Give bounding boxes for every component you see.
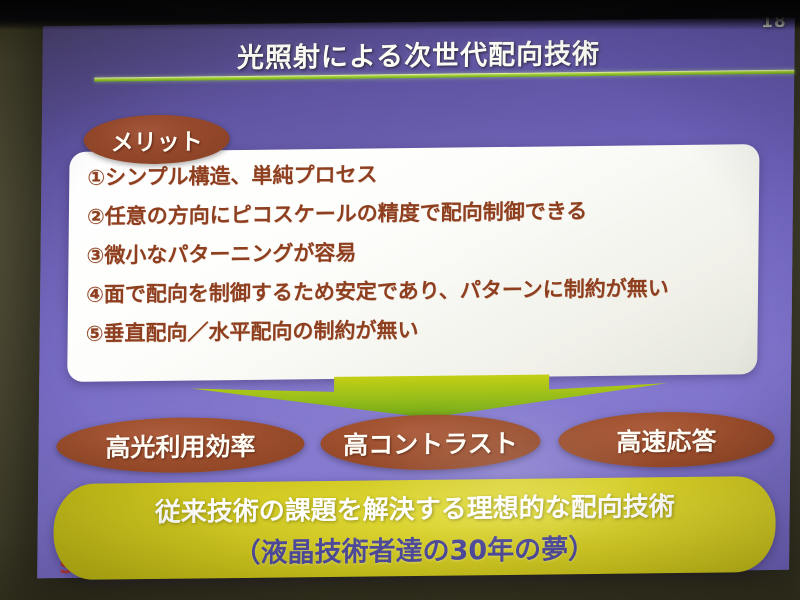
merit-badge: メリット	[83, 114, 230, 165]
benefit-bubble-3: 高速応答	[558, 411, 775, 468]
conclusion-line-2: （液晶技術者達の30年の夢）	[53, 525, 775, 572]
screenshot-root: 18 光照射による次世代配向技術 メリット ①シンプル構造、単純プロセス ②任意…	[0, 0, 800, 600]
benefits-row: 高光利用効率 高コントラスト 高速応答	[38, 411, 791, 482]
projected-slide: 18 光照射による次世代配向技術 メリット ①シンプル構造、単純プロセス ②任意…	[37, 18, 795, 579]
merit-item-1: ①シンプル構造、単純プロセス	[87, 160, 759, 189]
conclusion-box: 従来技術の課題を解決する理想的な配向技術 （液晶技術者達の30年の夢）	[53, 476, 776, 580]
benefit-bubble-1: 高光利用効率	[56, 416, 305, 474]
top-dark-band	[0, 0, 800, 30]
benefit-bubble-2-label: 高コントラスト	[343, 423, 518, 461]
merit-badge-label: メリット	[83, 114, 230, 165]
merit-item-4: ④面で配向を制御するため安定であり、パターンに制約が無い	[86, 277, 758, 306]
merits-panel: ①シンプル構造、単純プロセス ②任意の方向にピコスケールの精度で配向制御できる …	[67, 144, 759, 382]
merit-item-3: ③微小なパターニングが容易	[86, 238, 758, 267]
merit-item-5: ⑤垂直配向／水平配向の制約が無い	[86, 316, 758, 345]
benefit-bubble-3-label: 高速応答	[616, 421, 716, 458]
merits-list: ①シンプル構造、単純プロセス ②任意の方向にピコスケールの精度で配向制御できる …	[68, 144, 760, 345]
slide-content: 18 光照射による次世代配向技術 メリット ①シンプル構造、単純プロセス ②任意…	[37, 18, 795, 579]
benefit-bubble-2: 高コントラスト	[320, 414, 541, 472]
conclusion-line-1: 従来技術の課題を解決する理想的な配向技術	[54, 485, 776, 530]
benefit-bubble-1-label: 高光利用効率	[105, 426, 255, 464]
merit-item-2: ②任意の方向にピコスケールの精度で配向制御できる	[87, 199, 759, 228]
